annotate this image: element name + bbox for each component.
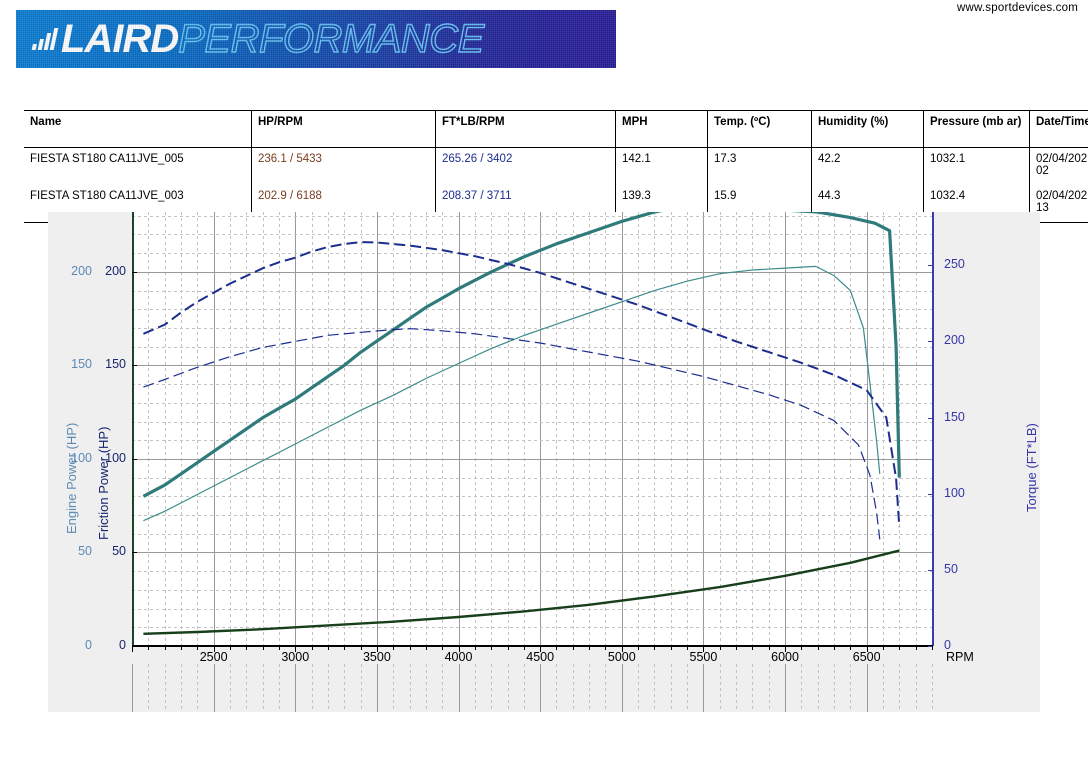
- xtick-mark: [556, 646, 557, 650]
- ytick-mark-right: [928, 341, 933, 342]
- cell-ftlb-rpm: 265.26 / 3402: [436, 148, 616, 186]
- xtick-mark: [197, 646, 198, 650]
- series-curve: [143, 242, 899, 527]
- xtick-mark: [181, 646, 182, 650]
- xtick-mark: [703, 646, 704, 652]
- col-header-datetime: Date/Time: [1030, 111, 1088, 148]
- xtick-mark: [165, 646, 166, 650]
- laird-performance-logo: LAIRD PERFORMANCE: [16, 10, 616, 68]
- xtick-mark: [540, 646, 541, 652]
- xtick-mark: [818, 646, 819, 650]
- axis-title-engine-power: Engine Power (HP): [64, 423, 79, 534]
- xtick-mark: [344, 646, 345, 650]
- xtick-mark: [736, 646, 737, 650]
- xtick-mark: [654, 646, 655, 650]
- col-header-ftlb-rpm: FT*LB/RPM: [436, 111, 616, 148]
- xtick-label-rpm: 2500: [192, 650, 236, 664]
- cell-run-name: FIESTA ST180 CA11JVE_005: [24, 148, 252, 186]
- ytick-mark-right: [928, 265, 933, 266]
- col-header-name: Name: [24, 111, 252, 148]
- ytick-label-friction-power: 50: [82, 544, 126, 558]
- col-header-mph: MPH: [616, 111, 708, 148]
- xtick-mark: [442, 646, 443, 650]
- xtick-mark: [785, 646, 786, 652]
- xtick-mark: [230, 646, 231, 650]
- xtick-mark: [589, 646, 590, 650]
- cell-hp-rpm: 236.1 / 5433: [252, 148, 436, 186]
- xtick-mark: [720, 646, 721, 650]
- xtick-mark: [295, 646, 296, 652]
- xtick-mark: [508, 646, 509, 650]
- axis-title-torque: Torque (FT*LB): [1024, 423, 1039, 512]
- ytick-mark-left: [132, 365, 137, 366]
- ytick-label-torque: 50: [944, 562, 984, 576]
- cell-temp: 17.3: [708, 148, 812, 186]
- xtick-mark: [148, 646, 149, 650]
- xtick-mark: [426, 646, 427, 650]
- xtick-mark: [132, 646, 133, 652]
- ytick-label-friction-power: 200: [82, 264, 126, 278]
- logo-brand-text: LAIRD: [61, 18, 178, 60]
- col-header-hp-rpm: HP/RPM: [252, 111, 436, 148]
- xtick-mark: [459, 646, 460, 652]
- xtick-mark: [475, 646, 476, 650]
- xtick-mark: [687, 646, 688, 650]
- cell-datetime: 02/04/2021 12:50: 02: [1030, 148, 1088, 186]
- ytick-mark-left: [132, 272, 137, 273]
- xtick-mark: [263, 646, 264, 650]
- xtick-mark: [638, 646, 639, 650]
- ytick-mark-right: [928, 494, 933, 495]
- xtick-mark: [899, 646, 900, 650]
- ytick-label-torque: 150: [944, 410, 984, 424]
- xtick-mark: [491, 646, 492, 650]
- xtick-mark: [850, 646, 851, 650]
- ytick-label-friction-power: 150: [82, 357, 126, 371]
- col-header-temp: Temp. (ºC): [708, 111, 812, 148]
- xtick-mark: [622, 646, 623, 652]
- ytick-label-friction-power: 100: [82, 451, 126, 465]
- xtick-label-rpm: 5500: [681, 650, 725, 664]
- xtick-label-rpm: 4500: [518, 650, 562, 664]
- dyno-chart-panel: Engine Power (HP) Friction Power (HP) To…: [48, 212, 1040, 712]
- xtick-mark: [932, 646, 933, 650]
- xtick-mark: [312, 646, 313, 650]
- ytick-mark-right: [928, 570, 933, 571]
- ytick-label-torque: 100: [944, 486, 984, 500]
- cell-humidity: 42.2: [812, 148, 924, 186]
- xtick-mark: [246, 646, 247, 650]
- xtick-mark: [671, 646, 672, 650]
- ytick-mark-left: [132, 552, 137, 553]
- xtick-mark: [867, 646, 868, 652]
- bar-chart-icon: [32, 28, 59, 50]
- col-header-humidity: Humidity (%): [812, 111, 924, 148]
- table-header-row: Name HP/RPM FT*LB/RPM MPH Temp. (ºC) Hum…: [24, 111, 1088, 148]
- ytick-label-friction-power: 0: [82, 638, 126, 652]
- series-curve: [143, 329, 879, 540]
- xtick-mark: [801, 646, 802, 650]
- ytick-mark-left: [132, 459, 137, 460]
- xtick-label-rpm: 6000: [763, 650, 807, 664]
- xtick-mark: [410, 646, 411, 650]
- series-curve: [143, 212, 899, 496]
- x-axis-unit-label: RPM: [946, 650, 974, 664]
- dyno-report-page: www.sportdevices.com LAIRD PERFORMANCE N…: [0, 0, 1088, 764]
- ytick-label-torque: 250: [944, 257, 984, 271]
- xtick-mark: [214, 646, 215, 652]
- series-curve: [143, 266, 879, 520]
- runs-table: Name HP/RPM FT*LB/RPM MPH Temp. (ºC) Hum…: [24, 110, 1088, 223]
- xtick-mark: [916, 646, 917, 650]
- table-header: Name HP/RPM FT*LB/RPM MPH Temp. (ºC) Hum…: [24, 111, 1088, 148]
- axis-title-friction-power: Friction Power (HP): [96, 427, 111, 540]
- ytick-mark-right: [928, 418, 933, 419]
- xtick-mark: [328, 646, 329, 650]
- xtick-label-rpm: 5000: [600, 650, 644, 664]
- xtick-mark: [605, 646, 606, 650]
- xtick-mark: [279, 646, 280, 650]
- cell-mph: 142.1: [616, 148, 708, 186]
- xtick-label-rpm: 3000: [273, 650, 317, 664]
- logo-suffix-text: PERFORMANCE: [178, 18, 484, 60]
- chart-series-curves: [48, 212, 1040, 712]
- xtick-label-rpm: 3500: [355, 650, 399, 664]
- cell-pressure: 1032.1: [924, 148, 1030, 186]
- series-curve: [143, 551, 899, 634]
- ytick-label-torque: 200: [944, 333, 984, 347]
- xtick-label-rpm: 6500: [845, 650, 889, 664]
- xtick-mark: [752, 646, 753, 650]
- xtick-mark: [883, 646, 884, 650]
- xtick-mark: [361, 646, 362, 650]
- xtick-mark: [769, 646, 770, 650]
- col-header-pressure: Pressure (mb ar): [924, 111, 1030, 148]
- xtick-mark: [393, 646, 394, 650]
- xtick-mark: [524, 646, 525, 650]
- table-row[interactable]: FIESTA ST180 CA11JVE_005 236.1 / 5433 26…: [24, 148, 1088, 186]
- xtick-mark: [377, 646, 378, 652]
- xtick-mark: [573, 646, 574, 650]
- xtick-label-rpm: 4000: [437, 650, 481, 664]
- site-url-watermark: www.sportdevices.com: [957, 2, 1078, 14]
- xtick-mark: [834, 646, 835, 650]
